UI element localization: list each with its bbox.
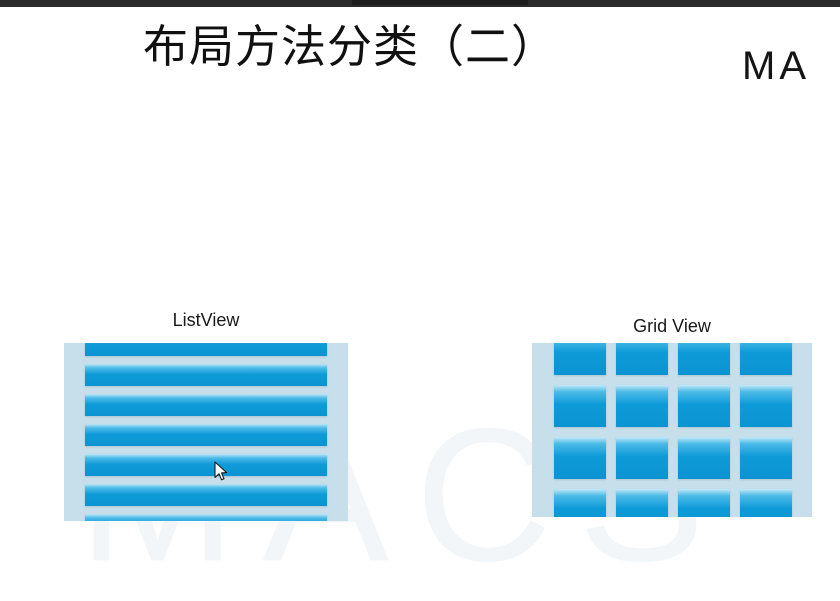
page-title: 布局方法分类（二） xyxy=(0,21,700,73)
window-title-bar-fragment xyxy=(352,0,528,5)
grid-item[interactable] xyxy=(554,489,606,517)
list-item[interactable] xyxy=(85,454,327,476)
grid-item[interactable] xyxy=(616,343,668,375)
list-item[interactable] xyxy=(85,394,327,416)
window-chrome-strip xyxy=(0,0,840,7)
gridview-caption: Grid View xyxy=(532,315,812,337)
listview-rows xyxy=(85,343,327,521)
gridview-panel xyxy=(532,343,812,517)
list-item[interactable] xyxy=(85,364,327,386)
grid-item[interactable] xyxy=(678,343,730,375)
grid-item[interactable] xyxy=(616,489,668,517)
grid-item[interactable] xyxy=(554,343,606,375)
grid-item[interactable] xyxy=(616,437,668,479)
list-item[interactable] xyxy=(85,424,327,446)
grid-item[interactable] xyxy=(740,489,792,517)
list-item[interactable] xyxy=(85,343,327,356)
slide-header: 布局方法分类（二） MA xyxy=(0,7,840,85)
grid-item[interactable] xyxy=(616,385,668,427)
grid-item[interactable] xyxy=(740,437,792,479)
list-item[interactable] xyxy=(85,484,327,506)
grid-item[interactable] xyxy=(678,437,730,479)
slide-body: MACS® ListView Grid View xyxy=(0,87,840,476)
brand-logo-text: MA xyxy=(742,45,840,87)
grid-item[interactable] xyxy=(740,385,792,427)
grid-item[interactable] xyxy=(678,489,730,517)
listview-caption: ListView xyxy=(64,309,348,331)
grid-item[interactable] xyxy=(740,343,792,375)
list-item[interactable] xyxy=(85,514,327,521)
grid-item[interactable] xyxy=(554,437,606,479)
grid-item[interactable] xyxy=(554,385,606,427)
listview-panel xyxy=(64,343,348,521)
grid-item[interactable] xyxy=(678,385,730,427)
gridview-cells xyxy=(554,343,794,517)
